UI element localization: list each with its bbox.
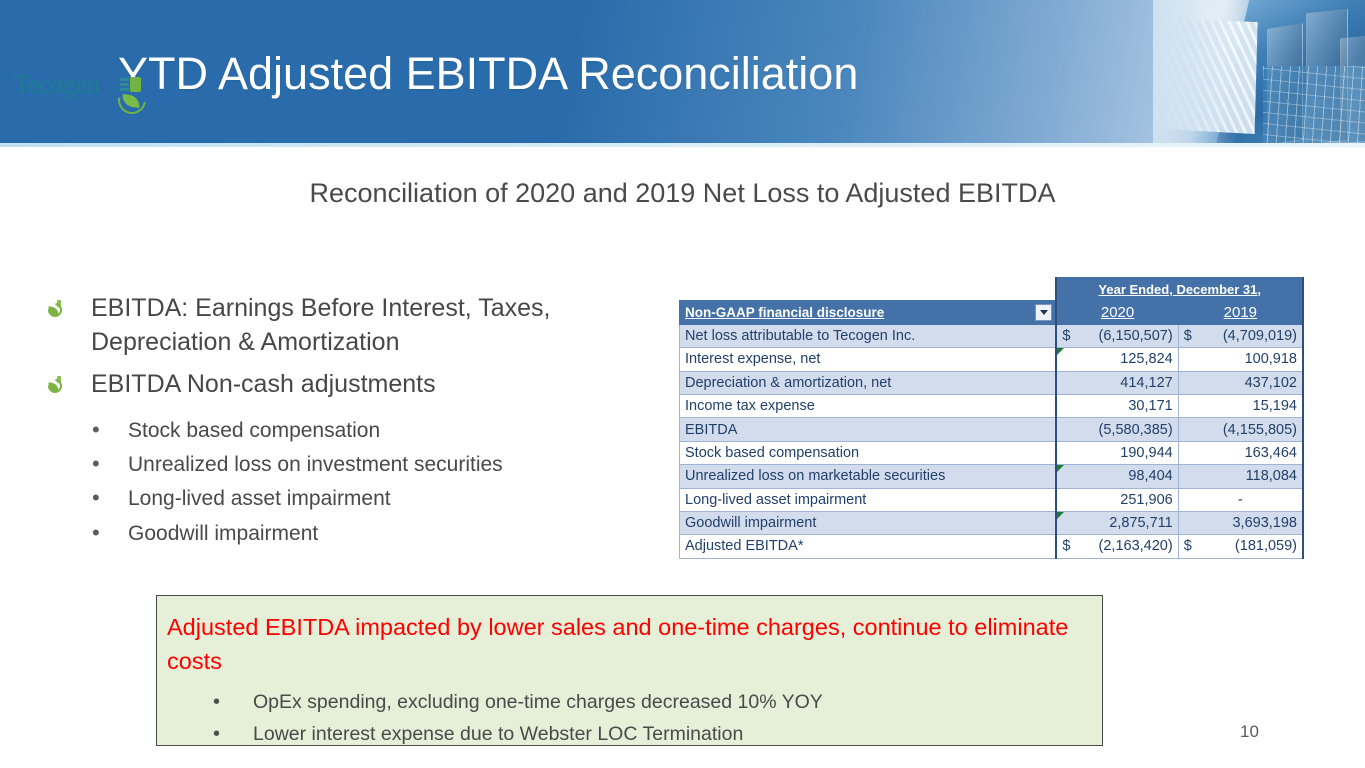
value-2020: 98,404 xyxy=(1056,465,1178,488)
table-group-header-row: Year Ended, December 31, xyxy=(680,278,1304,301)
green-leaf-bullet-icon xyxy=(46,300,66,322)
row-label: Unrealized loss on marketable securities xyxy=(680,465,1057,488)
page-title: YTD Adjusted EBITDA Reconciliation xyxy=(118,48,858,100)
table-column-header-row: Non-GAAP financial disclosure 2020 2019 xyxy=(680,301,1304,324)
row-label: Depreciation & amortization, net xyxy=(680,371,1057,394)
header-divider xyxy=(0,143,1365,147)
list-item: EBITDA: Earnings Before Interest, Taxes,… xyxy=(46,292,666,359)
list-item: • Stock based compensation xyxy=(92,416,666,446)
bullet-text: EBITDA: Earnings Before Interest, Taxes,… xyxy=(91,292,666,359)
callout-bullet-text: Lower interest expense due to Webster LO… xyxy=(253,720,743,749)
bullet-text: EBITDA Non-cash adjustments xyxy=(91,368,436,402)
logo-wordmark: Tecogen xyxy=(14,70,100,100)
sub-bullet-text: Stock based compensation xyxy=(128,416,380,446)
bullet-dot-icon: • xyxy=(92,519,128,548)
value-2020: 125,824 xyxy=(1056,348,1178,371)
column-header-2020: 2020 xyxy=(1056,301,1178,324)
value-2020: (5,580,385) xyxy=(1056,418,1178,441)
row-label-header-cell: Non-GAAP financial disclosure xyxy=(680,301,1057,324)
value-2020: (2,163,420) xyxy=(1078,535,1178,558)
value-2019: 118,084 xyxy=(1178,465,1303,488)
value-2019: 100,918 xyxy=(1178,348,1303,371)
row-label: EBITDA xyxy=(680,418,1057,441)
list-item: • Long-lived asset impairment xyxy=(92,484,666,514)
value-2020: 251,906 xyxy=(1056,488,1178,511)
row-label: Interest expense, net xyxy=(680,348,1057,371)
list-item: • Unrealized loss on investment securiti… xyxy=(92,450,666,480)
tecogen-logo: Tecogen xyxy=(14,62,164,118)
bullet-dot-icon: • xyxy=(213,721,253,747)
filter-dropdown-icon[interactable] xyxy=(1035,304,1052,321)
value-2019: (181,059) xyxy=(1200,535,1303,558)
callout-box: Adjusted EBITDA impacted by lower sales … xyxy=(156,595,1103,746)
sub-bullet-text: Goodwill impairment xyxy=(128,519,318,549)
value-2020: 30,171 xyxy=(1056,394,1178,417)
sub-bullet-text: Unrealized loss on investment securities xyxy=(128,450,503,480)
value-2019: (4,709,019) xyxy=(1200,324,1303,347)
list-item: EBITDA Non-cash adjustments xyxy=(46,368,666,402)
table-row: Interest expense, net 125,824 100,918 xyxy=(680,348,1304,371)
value-2020: 414,127 xyxy=(1056,371,1178,394)
currency-symbol-2020: $ xyxy=(1056,535,1078,558)
row-label: Stock based compensation xyxy=(680,441,1057,464)
table-row: Adjusted EBITDA* $ (2,163,420) $ (181,05… xyxy=(680,535,1304,558)
row-label: Goodwill impairment xyxy=(680,511,1057,534)
bullet-dot-icon: • xyxy=(92,416,128,445)
bullet-dot-icon: • xyxy=(213,689,253,715)
bullet-dot-icon: • xyxy=(92,450,128,479)
row-label: Income tax expense xyxy=(680,394,1057,417)
value-2019: 15,194 xyxy=(1178,394,1303,417)
row-label: Net loss attributable to Tecogen Inc. xyxy=(680,324,1057,347)
value-2019: 437,102 xyxy=(1178,371,1303,394)
currency-symbol-2019: $ xyxy=(1178,535,1200,558)
sub-bullet-list: • Stock based compensation • Unrealized … xyxy=(92,416,666,550)
table-row: Unrealized loss on marketable securities… xyxy=(680,465,1304,488)
currency-symbol-2019: $ xyxy=(1178,324,1200,347)
slide-header-band: Tecogen YTD Adjusted EBITDA Reconciliati… xyxy=(0,0,1365,143)
empty-cell xyxy=(680,278,1057,301)
row-label: Adjusted EBITDA* xyxy=(680,535,1057,558)
table-row: Stock based compensation 190,944 163,464 xyxy=(680,441,1304,464)
bullet-list: EBITDA: Earnings Before Interest, Taxes,… xyxy=(46,292,666,553)
page-number: 10 xyxy=(1240,722,1259,742)
table-row: Depreciation & amortization, net 414,127… xyxy=(680,371,1304,394)
value-2020: (6,150,507) xyxy=(1078,324,1178,347)
value-2019: - xyxy=(1178,488,1303,511)
value-2019: (4,155,805) xyxy=(1178,418,1303,441)
list-item: • OpEx spending, excluding one-time char… xyxy=(213,688,1084,717)
column-header-2019: 2019 xyxy=(1178,301,1303,324)
callout-bullet-text: OpEx spending, excluding one-time charge… xyxy=(253,688,823,717)
green-leaf-bullet-icon xyxy=(46,376,66,398)
photo-left-fade xyxy=(1153,0,1238,143)
table-row: Net loss attributable to Tecogen Inc. $ … xyxy=(680,324,1304,347)
row-label: Long-lived asset impairment xyxy=(680,488,1057,511)
bullet-dot-icon: • xyxy=(92,484,128,513)
list-item: • Goodwill impairment xyxy=(92,519,666,549)
callout-headline: Adjusted EBITDA impacted by lower sales … xyxy=(167,610,1084,678)
value-2019: 3,693,198 xyxy=(1178,511,1303,534)
slide-canvas: Tecogen YTD Adjusted EBITDA Reconciliati… xyxy=(0,0,1365,768)
value-2020: 190,944 xyxy=(1056,441,1178,464)
table-row: Goodwill impairment 2,875,711 3,693,198 xyxy=(680,511,1304,534)
currency-symbol-2020: $ xyxy=(1056,324,1078,347)
group-header-cell: Year Ended, December 31, xyxy=(1056,278,1303,301)
sub-bullet-text: Long-lived asset impairment xyxy=(128,484,391,514)
ebitda-reconciliation-table: Year Ended, December 31, Non-GAAP financ… xyxy=(679,277,1304,559)
callout-bullet-list: • OpEx spending, excluding one-time char… xyxy=(213,688,1084,750)
header-building-photo xyxy=(1153,0,1365,143)
list-item: • Lower interest expense due to Webster … xyxy=(213,720,1084,749)
value-2019: 163,464 xyxy=(1178,441,1303,464)
table-row: Long-lived asset impairment 251,906 - xyxy=(680,488,1304,511)
slide-subtitle: Reconciliation of 2020 and 2019 Net Loss… xyxy=(0,178,1365,209)
table-row: Income tax expense 30,171 15,194 xyxy=(680,394,1304,417)
leaf-icon xyxy=(118,86,148,114)
value-2020: 2,875,711 xyxy=(1056,511,1178,534)
photo-glass-facade xyxy=(1263,66,1365,143)
table-row: EBITDA (5,580,385) (4,155,805) xyxy=(680,418,1304,441)
